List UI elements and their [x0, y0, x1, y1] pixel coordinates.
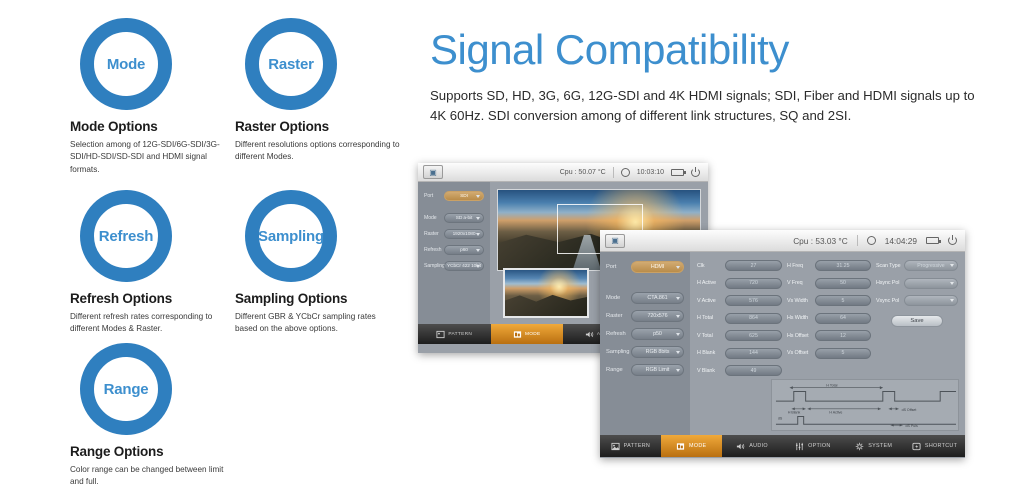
chevron-down-icon: [476, 265, 480, 268]
field-h-freq-label: H Freq: [787, 263, 815, 269]
feature-card-refresh: Refresh Refresh Options Different refres…: [70, 190, 240, 336]
panel2-tab-option[interactable]: OPTION: [782, 435, 843, 457]
field-vs-offset[interactable]: Vs Offset 5: [787, 348, 871, 359]
feature-card-raster: Raster Raster Options Different resoluti…: [235, 18, 405, 164]
field-v-blank-value[interactable]: 49: [725, 365, 782, 376]
timing-waveform: H Total H Blank H Active dS Offset dS: [772, 380, 958, 430]
panel1-row-port[interactable]: Port SDI: [424, 191, 484, 201]
panel1-port-label: Port: [424, 193, 444, 199]
panel1-refresh-value: p60: [460, 248, 468, 253]
field-v-freq-value[interactable]: 50: [815, 278, 871, 289]
field-h-freq-value[interactable]: 31.25: [815, 260, 871, 271]
chevron-down-icon: [676, 333, 680, 336]
panel2-refresh-label: Refresh: [606, 331, 631, 337]
panel2-refresh-value: p50: [653, 331, 662, 337]
panel2-tab-pattern[interactable]: PATTERN: [600, 435, 661, 457]
timing-label-ds-puls: dS Puls: [906, 424, 918, 428]
field-hs-width-value[interactable]: 64: [815, 313, 871, 324]
field-h-blank-label: H Blank: [697, 350, 725, 356]
thumbnail-mountains: [505, 290, 587, 316]
raster-description: Different resolutions options correspond…: [235, 139, 400, 164]
chevron-down-icon: [476, 195, 480, 198]
field-h-active-value[interactable]: 720: [725, 278, 782, 289]
field-hs-offset-label: Hs Offset: [787, 333, 815, 339]
mode-icon: [513, 330, 522, 339]
timing-label-h-total: H Total: [826, 384, 837, 388]
refresh-description: Different refresh rates corresponding to…: [70, 311, 235, 336]
timing-label-ds-offset: dS Offset: [902, 408, 917, 412]
power-icon[interactable]: [948, 236, 957, 245]
field-vsync-pol-select[interactable]: [904, 295, 958, 306]
panel1-row-sampling[interactable]: Sampling YCbCr 422 10bit: [424, 261, 484, 271]
field-vs-width[interactable]: Vs Width 5: [787, 295, 871, 306]
range-title: Range Options: [70, 444, 240, 459]
sampling-description: Different GBR & YCbCr sampling rates bas…: [235, 311, 400, 336]
raster-ring-badge: Raster: [245, 18, 337, 110]
panel1-mode-label: Mode: [424, 215, 444, 221]
app-logo-icon: ▣: [423, 165, 443, 179]
field-hs-offset[interactable]: Hs Offset 12: [787, 330, 871, 341]
panel2-sampling-value: RGB 8bits: [646, 349, 670, 355]
mode-title: Mode Options: [70, 119, 240, 134]
chevron-down-icon: [676, 297, 680, 300]
gear-icon: [855, 442, 864, 451]
panel2-tab-shortcut-label: SHORTCUT: [925, 443, 957, 449]
panel2-titlebar: ▣ Cpu : 53.03 °C 14:04:29: [600, 230, 965, 252]
field-v-total-label: V Total: [697, 333, 725, 339]
range-description: Color range can be changed between limit…: [70, 464, 235, 489]
field-vsync-pol[interactable]: Vsync Pol: [876, 295, 958, 306]
panel2-cpu-temp: Cpu : 53.03 °C: [793, 236, 848, 246]
field-vs-offset-value[interactable]: 5: [815, 348, 871, 359]
field-vs-width-value[interactable]: 5: [815, 295, 871, 306]
panel2-sampling-label: Sampling: [606, 349, 631, 355]
mode-description: Selection among of 12G-SDI/6G-SDI/3G-SDI…: [70, 139, 235, 176]
panel2-range-value: RGB Limit: [646, 367, 670, 373]
field-v-active[interactable]: V Active 576: [697, 295, 782, 306]
panel2-port-select[interactable]: HDMI: [631, 261, 684, 273]
app-logo-icon: ▣: [605, 234, 625, 248]
chevron-down-icon: [950, 264, 954, 267]
panel1-signal-settings: Port SDI Mode SD a-bit Raster 1920x1080: [418, 182, 490, 324]
field-clk[interactable]: Clk 27: [697, 260, 782, 271]
panel2-port-label: Port: [606, 264, 631, 270]
panel2-tab-pattern-label: PATTERN: [624, 443, 650, 449]
timing-column-1: Clk 27 H Active 720 V Active 576 H Total…: [697, 260, 782, 435]
field-v-freq-label: V Freq: [787, 280, 815, 286]
panel2-body: Port HDMI Mode CTA.861 Raster 720x576: [600, 252, 965, 435]
feature-card-range: Range Range Options Color range can be c…: [70, 343, 240, 489]
page-subtitle: Supports SD, HD, 3G, 6G, 12G-SDI and 4K …: [430, 86, 982, 126]
field-scan-type-label: Scan Type: [876, 263, 904, 269]
field-h-blank-value[interactable]: 144: [725, 348, 782, 359]
power-icon[interactable]: [691, 168, 700, 177]
panel1-cpu-temp: Cpu : 50.07 °C: [560, 169, 606, 176]
panel2-raster-label: Raster: [606, 313, 631, 319]
panel2-tab-option-label: OPTION: [808, 443, 830, 449]
field-h-total-label: H Total: [697, 315, 725, 321]
field-hs-width[interactable]: Hs Width 64: [787, 313, 871, 324]
field-v-blank[interactable]: V Blank 49: [697, 365, 782, 376]
panel2-time: 14:04:29: [885, 236, 917, 246]
audio-icon: [736, 442, 745, 451]
clock-icon: [867, 236, 876, 245]
panel2-mode-value: CTA.861: [647, 295, 667, 301]
panel1-sampling-label: Sampling: [424, 263, 444, 269]
preview-thumbnail[interactable]: [503, 268, 589, 318]
field-hs-width-label: Hs Width: [787, 315, 815, 321]
feature-grid: Mode Mode Options Selection among of 12G…: [70, 18, 415, 488]
panel2-row-port[interactable]: Port HDMI: [606, 261, 684, 273]
shortcut-icon: [912, 442, 921, 451]
field-v-active-value[interactable]: 576: [725, 295, 782, 306]
audio-icon: [585, 330, 594, 339]
battery-icon: [926, 237, 939, 244]
panel2-tab-mode[interactable]: MODE: [661, 435, 722, 457]
panel2-tab-shortcut[interactable]: SHORTCUT: [904, 435, 965, 457]
panel1-raster-value: 1920x1080: [453, 232, 476, 237]
panel1-tab-pattern-label: PATTERN: [448, 332, 472, 337]
option-icon: [795, 442, 804, 451]
panel1-sampling-select[interactable]: YCbCr 422 10bit: [444, 261, 484, 271]
chevron-down-icon: [676, 369, 680, 372]
panel1-refresh-select[interactable]: p60: [444, 245, 484, 255]
field-h-freq[interactable]: H Freq 31.25: [787, 260, 871, 271]
field-scan-type-value: Progressive: [917, 263, 944, 269]
field-hs-offset-value[interactable]: 12: [815, 330, 871, 341]
panel2-row-sampling[interactable]: Sampling RGB 8bits: [606, 346, 684, 358]
panel1-time: 10:03:10: [637, 169, 664, 176]
field-h-active-label: H Active: [697, 280, 725, 286]
panel2-tab-system-label: SYSTEM: [868, 443, 892, 449]
save-button[interactable]: Save: [891, 315, 943, 327]
chevron-down-icon: [476, 249, 480, 252]
chevron-down-icon: [950, 282, 954, 285]
chevron-down-icon: [676, 351, 680, 354]
panel1-tab-pattern[interactable]: PATTERN: [418, 324, 491, 344]
panel2-mode-select[interactable]: CTA.861: [631, 292, 684, 304]
timing-diagram: H Total H Blank H Active dS Offset dS: [771, 379, 959, 431]
panel2-mode-label: Mode: [606, 295, 631, 301]
panel2-row-mode[interactable]: Mode CTA.861: [606, 292, 684, 304]
panel2-raster-select[interactable]: 720x576: [631, 310, 684, 322]
field-scan-type[interactable]: Scan Type Progressive: [876, 260, 958, 271]
panel2-tab-audio[interactable]: AUDIO: [722, 435, 783, 457]
panel2-row-range[interactable]: Range RGB Limit: [606, 364, 684, 376]
device-screenshot-hdmi: ▣ Cpu : 53.03 °C 14:04:29 Port HDMI Mode: [600, 230, 965, 458]
field-v-total-value[interactable]: 625: [725, 330, 782, 341]
field-scan-type-select[interactable]: Progressive: [904, 260, 958, 271]
field-h-active[interactable]: H Active 720: [697, 278, 782, 289]
panel2-raster-value: 720x576: [648, 313, 668, 319]
field-h-blank[interactable]: H Blank 144: [697, 348, 782, 359]
panel1-row-refresh[interactable]: Refresh p60: [424, 245, 484, 255]
field-hsync-pol-label: Hsync Pol: [876, 280, 904, 286]
page-title: Signal Compatibility: [430, 28, 990, 72]
panel1-mode-value: SD a-bit: [456, 216, 473, 221]
chevron-down-icon: [676, 315, 680, 318]
panel2-refresh-select[interactable]: p50: [631, 328, 684, 340]
mode-ring-label: Mode: [107, 57, 145, 72]
divider: [857, 235, 858, 246]
panel1-titlebar: ▣ Cpu : 50.07 °C 10:03:10: [418, 163, 708, 182]
refresh-ring-badge: Refresh: [80, 190, 172, 282]
field-clk-label: Clk: [697, 263, 725, 269]
chevron-down-icon: [950, 299, 954, 302]
panel1-tab-mode[interactable]: MODE: [491, 324, 564, 344]
panel1-mode-select[interactable]: SD a-bit: [444, 213, 484, 223]
panel1-raster-label: Raster: [424, 231, 444, 237]
divider: [613, 167, 614, 178]
chevron-down-icon: [476, 217, 480, 220]
field-vs-width-label: Vs Width: [787, 298, 815, 304]
panel1-row-raster[interactable]: Raster 1920x1080: [424, 229, 484, 239]
field-clk-value[interactable]: 27: [725, 260, 782, 271]
field-v-freq[interactable]: V Freq 50: [787, 278, 871, 289]
panel1-status-group: Cpu : 50.07 °C 10:03:10: [560, 167, 703, 178]
timing-label-ds: dS: [778, 416, 783, 420]
feature-card-sampling: Sampling Sampling Options Different GBR …: [235, 190, 405, 336]
panel1-port-select[interactable]: SDI: [444, 191, 484, 201]
panel2-toolbar: PATTERN MODE AUDIO OPTION: [600, 435, 965, 457]
panel1-port-value: SDI: [460, 194, 468, 199]
field-v-active-label: V Active: [697, 298, 725, 304]
refresh-title: Refresh Options: [70, 291, 240, 306]
panel1-raster-select[interactable]: 1920x1080: [444, 229, 484, 239]
timing-label-h-active: H Active: [829, 411, 842, 415]
field-vsync-pol-label: Vsync Pol: [876, 298, 904, 304]
field-hsync-pol-select[interactable]: [904, 278, 958, 289]
chevron-down-icon: [476, 233, 480, 236]
sampling-ring-badge: Sampling: [245, 190, 337, 282]
panel1-refresh-label: Refresh: [424, 247, 444, 253]
sampling-ring-label: Sampling: [258, 229, 324, 244]
panel2-signal-settings: Port HDMI Mode CTA.861 Raster 720x576: [600, 252, 690, 435]
pattern-icon: [611, 442, 620, 451]
refresh-ring-label: Refresh: [99, 229, 153, 244]
pattern-icon: [436, 330, 445, 339]
panel1-row-mode[interactable]: Mode SD a-bit: [424, 213, 484, 223]
field-v-blank-label: V Blank: [697, 368, 725, 374]
raster-ring-label: Raster: [268, 57, 314, 72]
panel2-tab-system[interactable]: SYSTEM: [843, 435, 904, 457]
panel2-tab-mode-label: MODE: [689, 443, 706, 449]
sampling-title: Sampling Options: [235, 291, 405, 306]
panel2-sampling-select[interactable]: RGB 8bits: [631, 346, 684, 358]
panel2-row-refresh[interactable]: Refresh p50: [606, 328, 684, 340]
field-hsync-pol[interactable]: Hsync Pol: [876, 278, 958, 289]
raster-title: Raster Options: [235, 119, 405, 134]
field-h-total[interactable]: H Total 864: [697, 313, 782, 324]
range-ring-label: Range: [104, 382, 149, 397]
panel2-row-raster[interactable]: Raster 720x576: [606, 310, 684, 322]
feature-card-mode: Mode Mode Options Selection among of 12G…: [70, 18, 240, 176]
field-v-total[interactable]: V Total 625: [697, 330, 782, 341]
headline-block: Signal Compatibility Supports SD, HD, 3G…: [430, 28, 990, 126]
field-vs-offset-label: Vs Offset: [787, 350, 815, 356]
panel2-tab-audio-label: AUDIO: [749, 443, 768, 449]
mode-ring-badge: Mode: [80, 18, 172, 110]
clock-icon: [621, 168, 630, 177]
timing-label-h-blank: H Blank: [788, 411, 801, 415]
panel2-port-value: HDMI: [651, 264, 664, 270]
chevron-down-icon: [676, 266, 680, 269]
field-h-total-value[interactable]: 864: [725, 313, 782, 324]
panel2-status-group: Cpu : 53.03 °C 14:04:29: [793, 235, 960, 246]
panel1-tab-mode-label: MODE: [525, 332, 541, 337]
range-ring-badge: Range: [80, 343, 172, 435]
panel2-timing-fields: Clk 27 H Active 720 V Active 576 H Total…: [690, 252, 965, 435]
mode-icon: [676, 442, 685, 451]
panel2-range-select[interactable]: RGB Limit: [631, 364, 684, 376]
battery-icon: [671, 169, 684, 176]
panel2-range-label: Range: [606, 367, 631, 373]
